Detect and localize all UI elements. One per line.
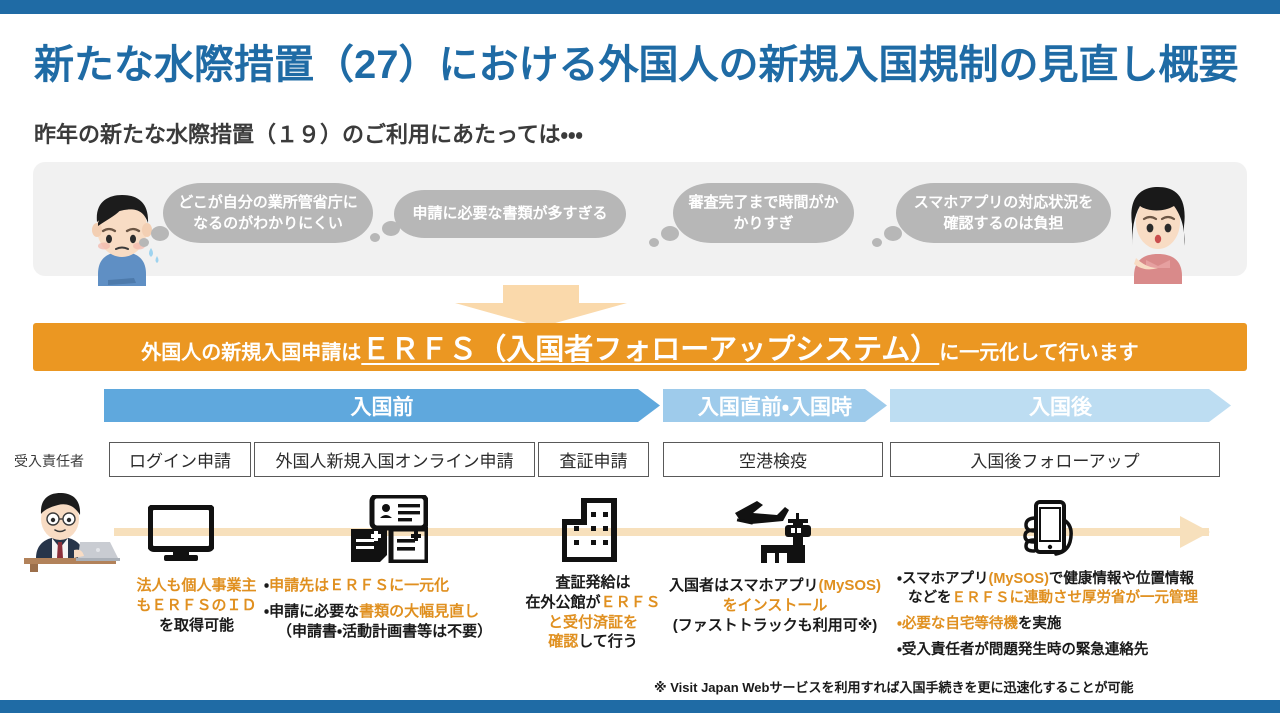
online-item1-text: 申請先はＥＲＦＳに一元化 [269, 577, 449, 594]
footnote-text: ※ Visit Japan Webサービスを利用すれば入国手続きを更に迅速化する… [654, 677, 1133, 696]
online-item2-b: （申請書・活動計画書等は不要） [264, 623, 492, 640]
bottom-accent-bar [0, 700, 1280, 713]
id-card-documents-icon [350, 495, 428, 563]
description-airport: 入国者はスマホアプリ(MySOS) をインストール (ファストトラックも利用可※… [660, 576, 890, 635]
businessman-laptop-illustration [14, 492, 124, 572]
step-box-online-application: 外国人新規入国オンライン申請 [254, 442, 535, 477]
online-item-2: ・申請に必要な書類の大幅見直し （申請書・活動計画書等は不要） [264, 602, 494, 642]
banner-lead-text: 外国人の新規入国申請は [141, 336, 361, 365]
login-line2: もＥＲＦＳのＩＤ [136, 597, 256, 614]
worried-woman-illustration [1118, 184, 1198, 284]
description-visa: 査証発給は 在外公館がＥＲＦＳ と受付済証を 確認して行う [523, 573, 663, 652]
visa-line4-highlight: 確認 [548, 633, 578, 650]
banner-emphasis-text: ＥＲＦＳ（入国者フォローアップシステム） [361, 326, 939, 368]
stage-chevron-at-entry: 入国直前・入国時 [663, 389, 887, 422]
visa-line4-b: して行う [578, 633, 638, 650]
monitor-icon [148, 505, 214, 561]
airport-line1-a: 入国者はスマホアプリ [669, 577, 819, 594]
airport-line2: をインストール [723, 597, 828, 614]
step-box-login: ログイン申請 [109, 442, 251, 477]
online-item-1: ・申請先はＥＲＦＳに一元化 [264, 576, 494, 596]
slide-root: 新たな水際措置（27）における外国人の新規入国規制の見直し概要 昨年の新たな水際… [0, 0, 1280, 720]
online-item2-a: 申請に必要な [269, 603, 359, 620]
followup-item1-a: ・スマホアプリ [897, 571, 989, 587]
step-box-visa-application: 査証申請 [538, 442, 649, 477]
followup-item1-b: で健康情報や位置情報 [1049, 571, 1194, 587]
followup-item2-highlight: 必要な自宅等待機 [902, 616, 1018, 632]
followup-item3-text: ・受入責任者が問題発生時の緊急連絡先 [897, 642, 1148, 658]
followup-item1-highlight: ＥＲＦＳに連動させ厚労省が一元管理 [952, 590, 1199, 606]
embassy-building-icon [562, 498, 624, 562]
hand-smartphone-icon [1018, 500, 1076, 562]
banner-tail-text: に一元化して行います [939, 336, 1138, 365]
visa-line1: 査証発給は [555, 574, 630, 591]
complaint-bubble-1: どこが自分の業所管省庁になるのがわかりにくい [163, 183, 373, 243]
description-login: 法人も個人事業主 もＥＲＦＳのＩＤ を取得可能 [129, 576, 264, 635]
stage-chevron-before-entry: 入国前 [104, 389, 660, 422]
complaint-bubble-4: スマホアプリの対応状況を確認するのは負担 [896, 183, 1111, 243]
visa-line2-a: 在外公館が [525, 594, 600, 611]
timeline-arrow-head-icon [1180, 516, 1210, 548]
followup-item-3: ・受入責任者が問題発生時の緊急連絡先 [897, 641, 1247, 660]
followup-item1-mysos: (MySOS) [989, 571, 1049, 587]
erfs-banner: 外国人の新規入国申請は ＥＲＦＳ（入国者フォローアップシステム） に一元化して行… [33, 323, 1247, 371]
description-followup: ・スマホアプリ(MySOS)で健康情報や位置情報 などをＥＲＦＳに連動させ厚労省… [897, 570, 1247, 668]
visa-line2-highlight: ＥＲＦＳ [601, 594, 661, 611]
description-online-application: ・申請先はＥＲＦＳに一元化 ・申請に必要な書類の大幅見直し （申請書・活動計画書… [264, 576, 494, 647]
subtitle-text: 昨年の新たな水際措置（１９）のご利用にあたっては・・・ [34, 117, 583, 149]
responsible-party-label: 受入責任者 [14, 451, 84, 471]
login-line3: を取得可能 [159, 617, 234, 634]
complaint-bubble-2: 申請に必要な書類が多すぎる [394, 190, 626, 238]
followup-item-2: ・必要な自宅等待機を実施 [897, 615, 1247, 634]
step-box-post-entry-followup: 入国後フォローアップ [890, 442, 1220, 477]
followup-item-1: ・スマホアプリ(MySOS)で健康情報や位置情報 などをＥＲＦＳに連動させ厚労省… [897, 570, 1247, 608]
airport-line3: (ファストトラックも利用可※) [673, 617, 878, 634]
airport-plane-icon [733, 495, 823, 563]
login-line1: 法人も個人事業主 [136, 577, 256, 594]
visa-line3: と受付済証を [548, 614, 638, 631]
followup-item1-c: などを [897, 590, 952, 606]
page-title: 新たな水際措置（27）における外国人の新規入国規制の見直し概要 [34, 32, 1244, 90]
down-arrow-icon [455, 285, 627, 327]
stage-chevron-after-entry: 入国後 [890, 389, 1231, 422]
complaint-bubble-3: 審査完了まで時間がかかりすぎ [673, 183, 854, 243]
online-item2-highlight: 書類の大幅見直し [359, 603, 479, 620]
top-accent-bar [0, 0, 1280, 14]
followup-item2-b: を実施 [1018, 616, 1062, 632]
airport-line1-highlight: (MySOS) [819, 577, 882, 594]
step-box-airport-quarantine: 空港検疫 [663, 442, 883, 477]
